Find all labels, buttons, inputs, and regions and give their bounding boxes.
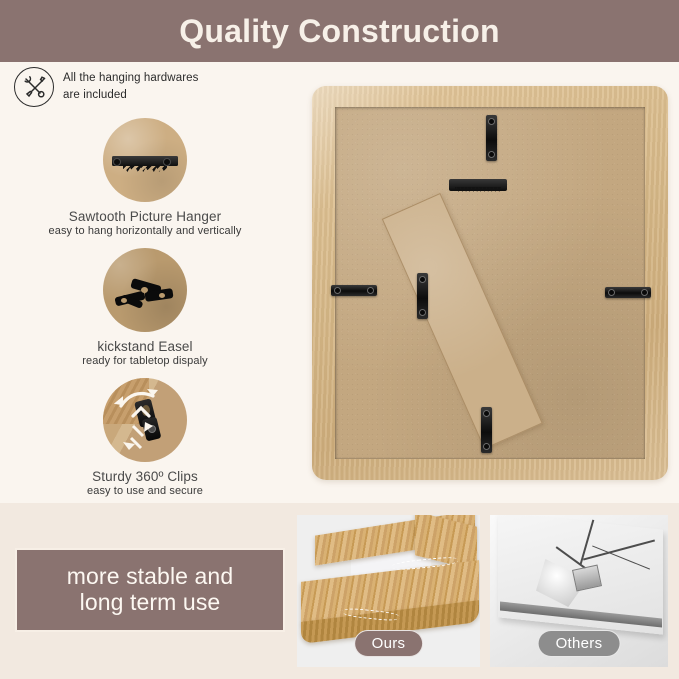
clip-left <box>331 285 377 296</box>
feature-subtitle: ready for tabletop dispaly <box>0 355 290 367</box>
rotating-clips-photo <box>103 378 187 462</box>
page-title: Quality Construction <box>0 0 679 62</box>
comparison-row: Ours Others <box>297 515 668 667</box>
feature-360-clips: Sturdy 360º Clips easy to use and secure <box>0 378 290 497</box>
feature-title: Sawtooth Picture Hanger <box>0 209 290 224</box>
clip-bottom <box>481 407 492 453</box>
hardware-included-text: All the hanging hardwares are included <box>63 67 198 103</box>
frame-backing-board <box>335 107 645 459</box>
clip-right <box>605 287 651 298</box>
page-header: Quality Construction <box>0 0 679 62</box>
clip-center-left <box>417 273 428 319</box>
hardware-included-badge: All the hanging hardwares are included <box>14 67 198 107</box>
badge-ours: Ours <box>354 630 424 657</box>
feature-title: Sturdy 360º Clips <box>0 469 290 484</box>
comparison-card-ours: Ours <box>297 515 480 667</box>
feature-kickstand-easel: kickstand Easel ready for tabletop dispa… <box>0 248 290 367</box>
promo-text: more stable and long term use <box>67 564 233 616</box>
sawtooth-hanger-photo <box>103 118 187 202</box>
features-column: All the hanging hardwares are included S… <box>0 62 290 503</box>
clip-top <box>486 115 497 161</box>
tools-icon <box>14 67 54 107</box>
feature-title: kickstand Easel <box>0 339 290 354</box>
feature-subtitle: easy to use and secure <box>0 485 290 497</box>
comparison-card-others: Others <box>490 515 668 667</box>
feature-subtitle: easy to hang horizontally and vertically <box>0 225 290 237</box>
kickstand-easel-photo <box>103 248 187 332</box>
lower-section: more stable and long term use Ours <box>0 503 679 679</box>
sawtooth-hanger-hardware <box>449 179 507 191</box>
picture-frame-back-photo <box>312 86 668 480</box>
rotation-arrow-icon <box>103 378 187 462</box>
promo-banner: more stable and long term use <box>15 548 285 632</box>
feature-sawtooth-hanger: Sawtooth Picture Hanger easy to hang hor… <box>0 118 290 237</box>
badge-others: Others <box>538 630 621 657</box>
